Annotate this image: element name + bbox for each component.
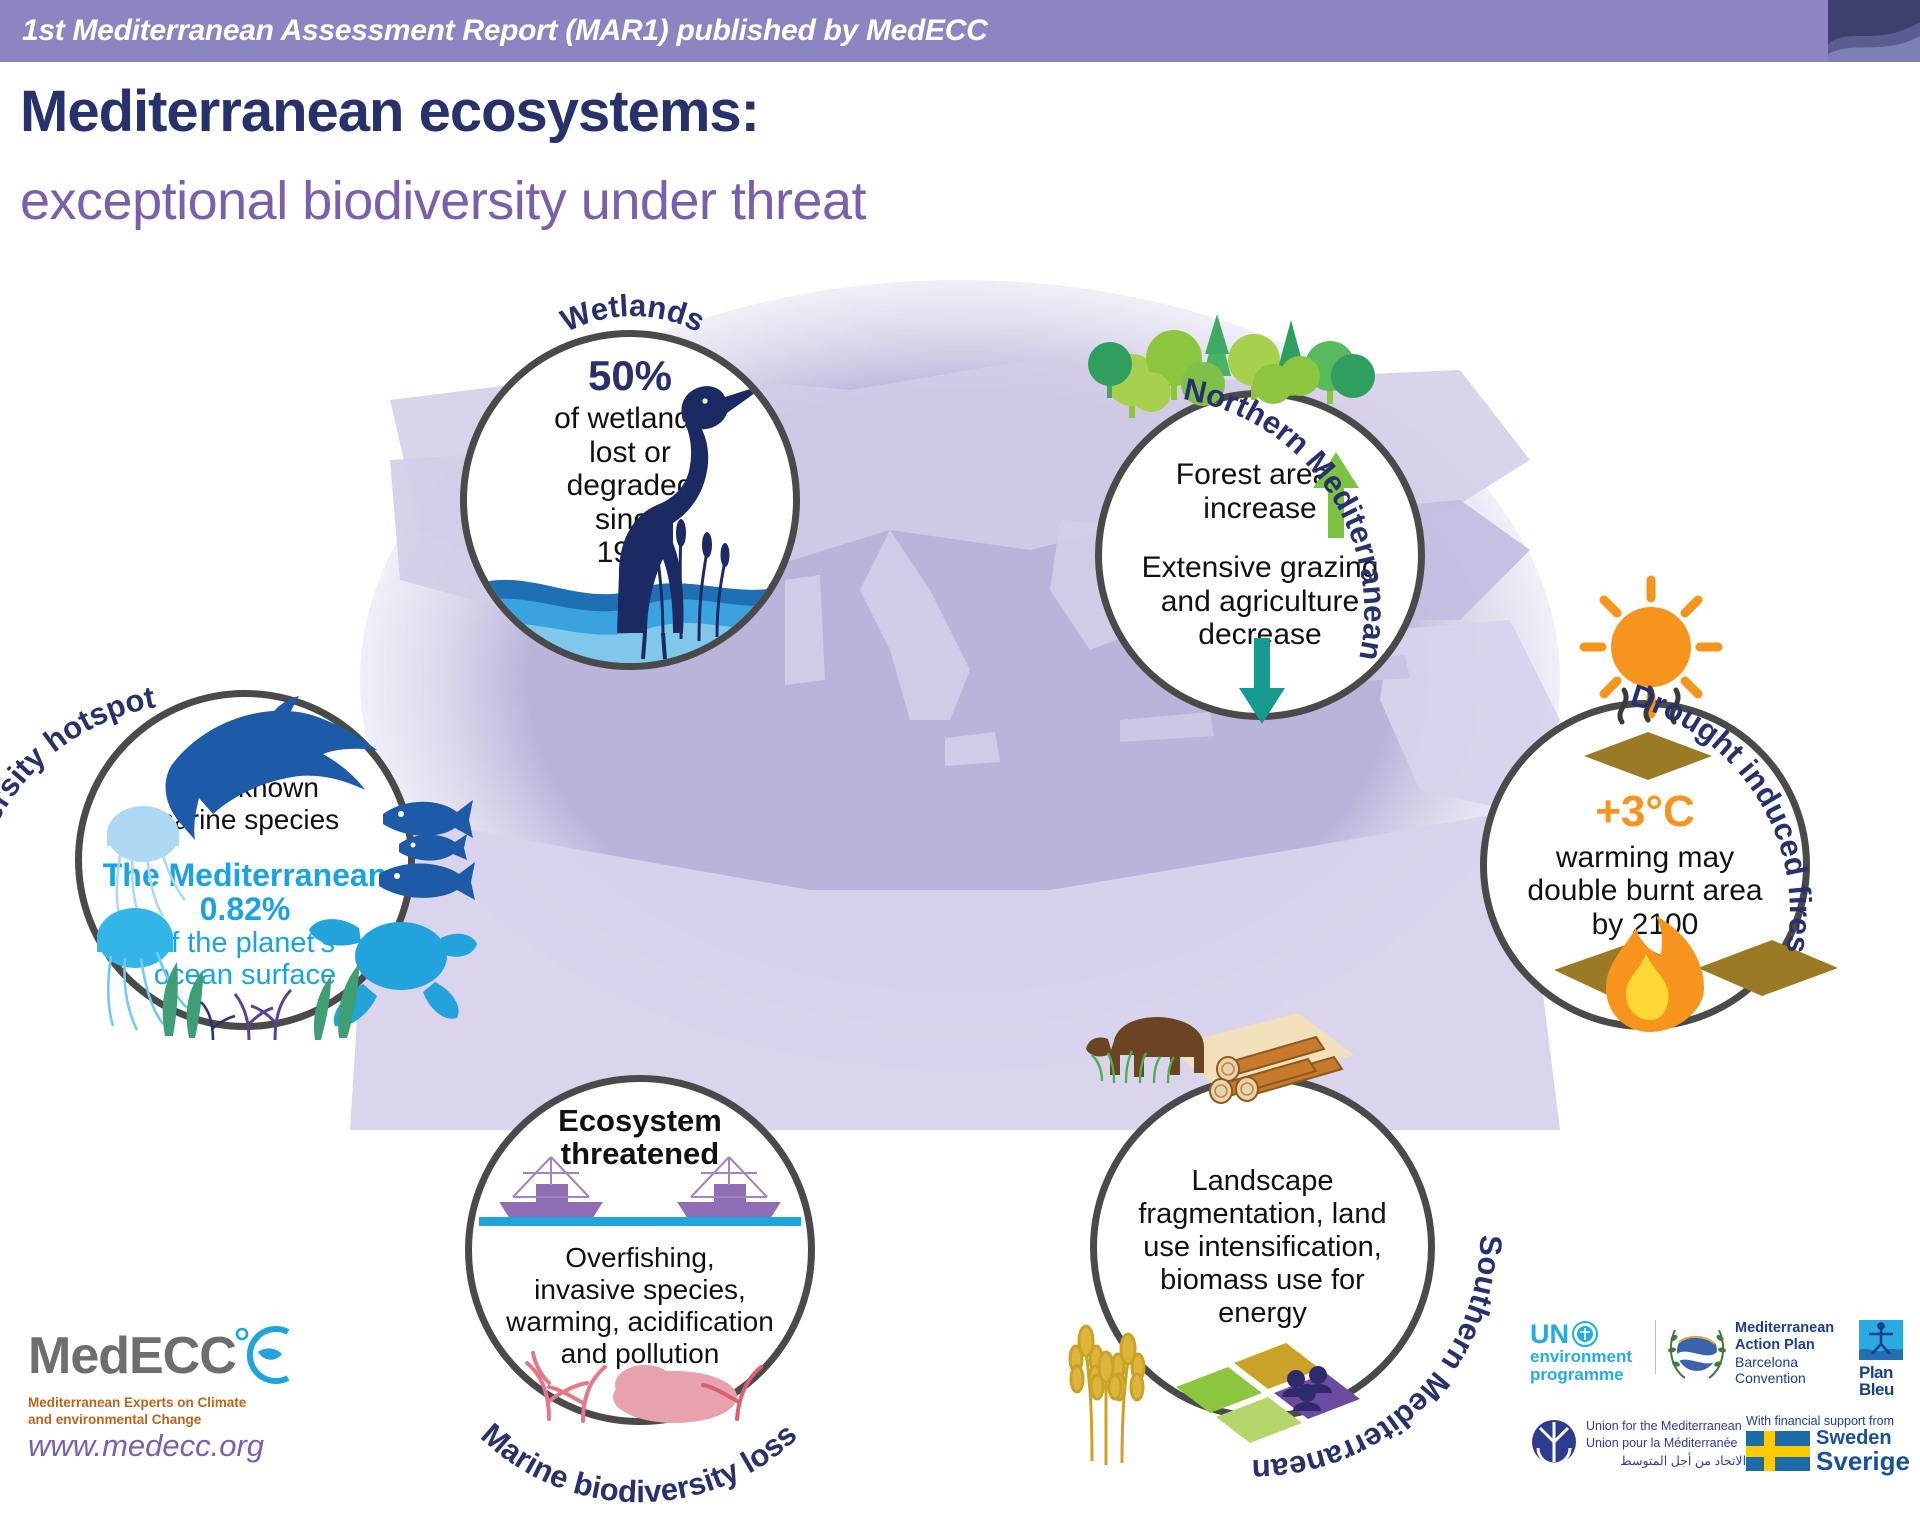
southern-line-2: use intensification, — [1138, 1231, 1386, 1264]
marine-arc-text: Marine biodiversity loss — [475, 1416, 804, 1509]
hotspot-line-1: marine species — [151, 804, 339, 836]
northern-bottom-line-0: Extensive grazing — [1142, 551, 1379, 585]
wetlands-stat: 50% — [588, 354, 672, 398]
plan-bleu-icon — [1859, 1320, 1903, 1360]
sweden-line-2: Sverige — [1816, 1448, 1910, 1474]
medecc-tagline-line-2: and environmental Change — [28, 1412, 318, 1429]
drought-line-2: by 2100 — [1527, 908, 1762, 942]
hotspot-sub-title: The Mediterranean — [103, 858, 388, 893]
svg-text:Marine biodiversity loss: Marine biodiversity loss — [475, 1416, 804, 1509]
ufm-line-1: Union for the Mediterranean — [1586, 1418, 1746, 1436]
marine-line-3: and pollution — [506, 1338, 774, 1370]
drought-line-0: warming may — [1527, 841, 1762, 875]
map-line-2: Action Plan — [1735, 1337, 1855, 1354]
marine-heading-1: threatened — [558, 1138, 722, 1171]
sweden-support-logo[interactable]: With financial support from Sweden Sveri… — [1746, 1414, 1910, 1474]
southern-line-0: Landscape — [1138, 1165, 1386, 1198]
hotspot-line-0: of all known — [151, 772, 339, 804]
wetlands-line-2: degraded — [554, 469, 706, 503]
marine-line-0: Overfishing, — [506, 1242, 774, 1274]
node-southern-mediterranean[interactable]: Southern Mediterranean — [1090, 1075, 1435, 1420]
drought-content: +3°C warming may double burnt area by 21… — [1480, 700, 1810, 1030]
plan-bleu-line-2: Bleu — [1859, 1382, 1903, 1399]
medecc-wordmark: MedECC — [28, 1330, 236, 1382]
node-wetlands[interactable]: Wetlands — [460, 330, 800, 670]
hotspot-sub-stat: 0.82% — [200, 892, 291, 927]
sweden-line-1: Sweden — [1816, 1428, 1910, 1448]
northern-bottom-line-2: decrease — [1142, 618, 1379, 652]
northern-bottom-line-1: and agriculture — [1142, 585, 1379, 619]
map-line-1: Mediterranean — [1735, 1320, 1855, 1337]
ufm-logo[interactable] — [1530, 1418, 1578, 1471]
map-line-4: Convention — [1735, 1370, 1855, 1386]
unep-environment-text: environment — [1530, 1348, 1646, 1366]
map-barcelona-emblem[interactable] — [1665, 1320, 1729, 1387]
sweden-support-text: With financial support from — [1746, 1414, 1910, 1428]
hotspot-content: 18% of all known marine species The Medi… — [75, 690, 415, 1030]
banner-text: 1st Mediterranean Assessment Report (MAR… — [0, 14, 987, 48]
unep-programme-text: programme — [1530, 1366, 1646, 1384]
node-drought-induced-fires[interactable]: Drought induced fires — [1480, 700, 1810, 1030]
wetlands-line-0: of wetlands — [554, 402, 706, 436]
partner-logos: UN environment programme — [1530, 1320, 1910, 1474]
marine-line-2: warming, acidification — [506, 1306, 774, 1338]
banner-wave-decoration — [1828, 0, 1920, 62]
southern-line-1: fragmentation, land — [1138, 1198, 1386, 1231]
marine-line-1: invasive species, — [506, 1274, 774, 1306]
medecc-tagline-line-1: Mediterranean Experts on Climate — [28, 1395, 318, 1412]
ufm-line-3: الاتحاد من أجل المتوسط — [1586, 1453, 1746, 1471]
southern-line-4: energy — [1138, 1297, 1386, 1330]
northern-content: Forest areas increase Extensive grazing … — [1095, 390, 1425, 720]
northern-top-line-0: Forest areas — [1176, 458, 1344, 492]
page-subtitle: exceptional biodiversity under threat — [20, 170, 866, 232]
node-marine-biodiversity-loss[interactable]: Marine biodiversity loss — [465, 1075, 815, 1425]
wetlands-content: 50% of wetlands lost or degraded since 1… — [460, 330, 800, 670]
drought-stat: +3°C — [1595, 789, 1695, 835]
hotspot-sub-line-0: of the planet’s — [154, 927, 336, 959]
hotspot-sub-line-1: ocean surface — [154, 959, 336, 991]
un-emblem-icon — [1572, 1321, 1598, 1347]
unep-logo[interactable]: UN environment programme — [1530, 1320, 1646, 1384]
ufm-icon — [1530, 1418, 1578, 1466]
medecc-logo-mark — [230, 1324, 302, 1391]
marine-heading-0: Ecosystem — [558, 1105, 722, 1138]
map-line-3: Barcelona — [1735, 1354, 1855, 1370]
wetlands-line-1: lost or — [554, 436, 706, 470]
node-northern-mediterranean[interactable]: Northern Mediterranean — [1095, 390, 1425, 720]
drought-line-1: double burnt area — [1527, 874, 1762, 908]
wetlands-line-4: 1970 — [554, 536, 706, 570]
plan-bleu-logo[interactable]: Plan Bleu — [1859, 1320, 1903, 1398]
hotspot-stat: 18% — [203, 726, 287, 770]
cow-icon — [1086, 1017, 1204, 1077]
medecc-url[interactable]: www.medecc.org — [28, 1428, 264, 1464]
page-title: Mediterranean ecosystems: — [20, 78, 759, 145]
unep-un-text: UN — [1530, 1320, 1569, 1348]
medecc-logo[interactable]: MedECC Mediterranean Experts on Climate … — [28, 1330, 338, 1429]
ufm-line-2: Union pour la Méditerranée — [1586, 1435, 1746, 1453]
node-biodiversity-hotspot[interactable]: Biodiversity hotspot — [75, 690, 415, 1030]
medecc-tagline: Mediterranean Experts on Climate and env… — [28, 1395, 318, 1429]
map-text-block: Mediterranean Action Plan Barcelona Conv… — [1735, 1320, 1855, 1386]
southern-content: Landscape fragmentation, land use intens… — [1090, 1075, 1435, 1420]
sweden-flag-icon — [1746, 1431, 1810, 1471]
ufm-text-block: Union for the Mediterranean Union pour l… — [1586, 1418, 1746, 1471]
northern-top-line-1: increase — [1176, 492, 1344, 526]
southern-line-3: biomass use for — [1138, 1264, 1386, 1297]
wetlands-line-3: since — [554, 503, 706, 537]
marine-content: Ecosystem threatened Overfishing, invasi… — [465, 1075, 815, 1425]
top-banner: 1st Mediterranean Assessment Report (MAR… — [0, 0, 1832, 62]
logo-divider — [1655, 1320, 1656, 1374]
